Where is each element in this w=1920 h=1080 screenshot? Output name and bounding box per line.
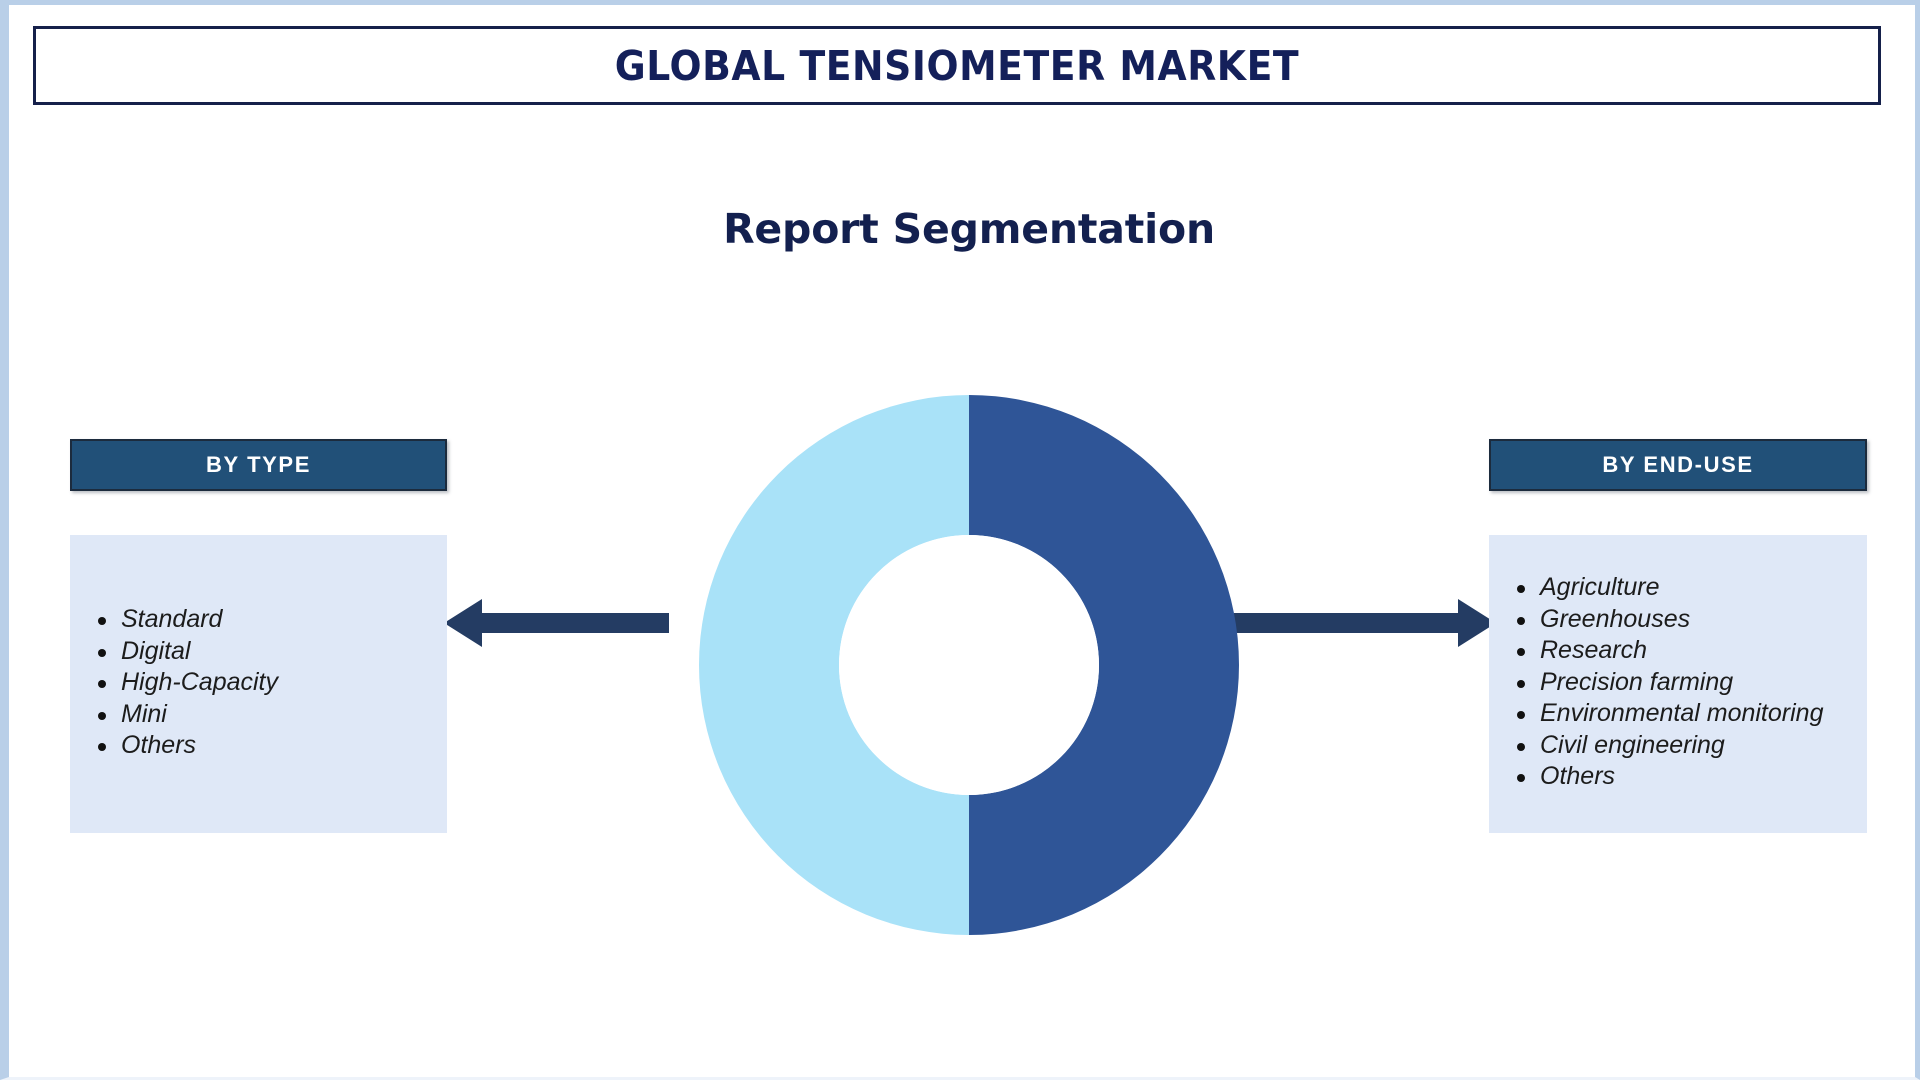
panel-by-end-use-body: Agriculture Greenhouses Research Precisi… [1489, 535, 1867, 833]
donut-svg [693, 389, 1245, 941]
segmentation-donut-chart [693, 389, 1245, 941]
panel-by-end-use-header-label: BY END-USE [1602, 452, 1753, 478]
panel-by-type-header-label: BY TYPE [206, 452, 311, 478]
panel-by-type-header: BY TYPE [70, 439, 447, 491]
by-end-use-list: Agriculture Greenhouses Research Precisi… [1509, 572, 1859, 793]
list-item: Standard [90, 604, 439, 636]
panel-by-end-use-header: BY END-USE [1489, 439, 1867, 491]
panel-by-type-body: Standard Digital High-Capacity Mini Othe… [70, 535, 447, 833]
list-item: Environmental monitoring [1509, 698, 1859, 730]
infographic-page: GLOBAL TENSIOMETER MARKET Report Segment… [0, 0, 1920, 1080]
list-item: Greenhouses [1509, 604, 1859, 636]
page-title: GLOBAL TENSIOMETER MARKET [615, 42, 1299, 90]
by-type-list: Standard Digital High-Capacity Mini Othe… [90, 604, 439, 762]
arrow-left-icon [444, 595, 669, 651]
list-item: Civil engineering [1509, 730, 1859, 762]
section-heading: Report Segmentation [9, 205, 1920, 253]
list-item: High-Capacity [90, 667, 439, 699]
panel-by-end-use: BY END-USE Agriculture Greenhouses Resea… [1489, 439, 1867, 833]
list-item: Others [90, 730, 439, 762]
list-item: Others [1509, 761, 1859, 793]
list-item: Precision farming [1509, 667, 1859, 699]
arrow-right-icon [1234, 595, 1496, 651]
panel-by-type: BY TYPE Standard Digital High-Capacity M… [70, 439, 447, 833]
list-item: Research [1509, 635, 1859, 667]
title-box: GLOBAL TENSIOMETER MARKET [33, 26, 1881, 105]
list-item: Mini [90, 699, 439, 731]
list-item: Digital [90, 636, 439, 668]
donut-hole [839, 535, 1099, 795]
list-item: Agriculture [1509, 572, 1859, 604]
